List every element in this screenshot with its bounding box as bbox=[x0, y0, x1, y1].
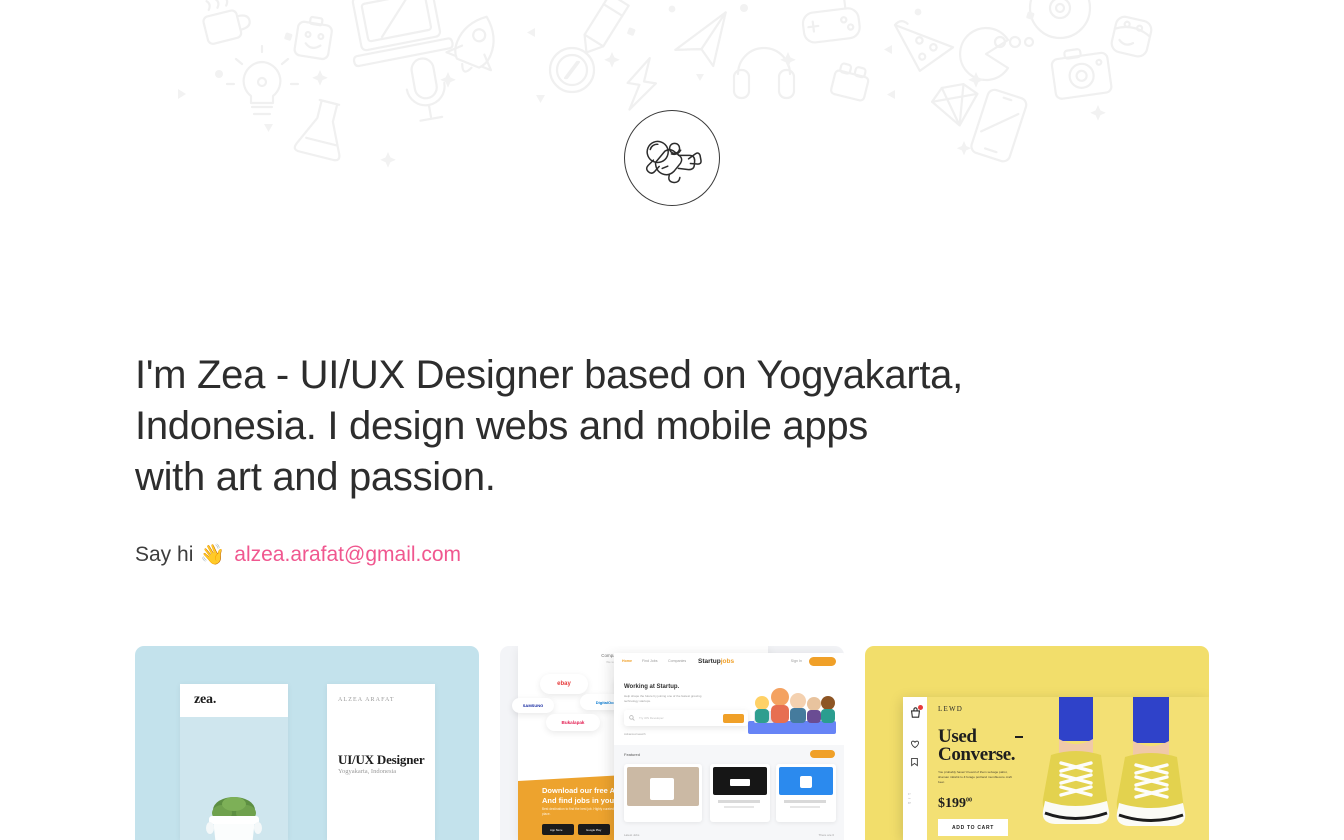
burger-icon bbox=[1110, 15, 1153, 58]
coffee-mug-icon bbox=[199, 0, 253, 45]
cd-disc-icon bbox=[1030, 0, 1090, 38]
pacman-dot-icon bbox=[1025, 38, 1033, 46]
pizza-icon bbox=[894, 6, 956, 73]
headphones-icon bbox=[734, 48, 794, 98]
plant-illustration bbox=[197, 788, 271, 840]
brand-logo-label: zea. bbox=[194, 692, 216, 708]
app-hero-title: Working at Startup. bbox=[624, 684, 679, 690]
job-search-bar[interactable]: Try iOS Developer bbox=[624, 710, 748, 726]
compass-icon bbox=[550, 48, 594, 92]
pencil-icon bbox=[577, 0, 629, 58]
contact-prefix: Say hi bbox=[135, 541, 193, 569]
converse-shoes-photo bbox=[1023, 697, 1209, 840]
laptop-icon bbox=[342, 0, 453, 67]
heart-icon[interactable] bbox=[910, 739, 920, 749]
business-card-location: Yogyakarta, Indonesia bbox=[338, 768, 396, 775]
product-description: You probably haven't heard of them selva… bbox=[938, 770, 1018, 786]
pacman-dot-icon bbox=[995, 37, 1005, 47]
smartphone-icon bbox=[970, 88, 1028, 163]
shop-sidebar-rail: 1 / 3 bbox=[903, 697, 927, 840]
lightning-bolt-icon bbox=[624, 55, 660, 113]
bookmark-icon[interactable] bbox=[910, 757, 919, 767]
portfolio-landing-page: I'm Zea - UI/UX Designer based on Yogyak… bbox=[0, 0, 1344, 840]
lego-brick-icon bbox=[830, 62, 871, 101]
app-brand-label: Startupjobs bbox=[698, 658, 734, 665]
featured-label: Featured bbox=[624, 752, 640, 757]
jobboard-app-sheet: Home Find Jobs Companies Startupjobs Sig… bbox=[614, 653, 844, 840]
microphone-icon bbox=[402, 55, 450, 122]
flask-icon bbox=[294, 97, 352, 161]
app-hero-paragraph: Help shape the future by joining one of … bbox=[624, 694, 702, 703]
price-amount: $199 bbox=[938, 796, 966, 811]
waving-hand-icon: 👋 bbox=[200, 541, 225, 569]
nav-item-companies[interactable]: Companies bbox=[668, 659, 686, 663]
lightbulb-icon bbox=[227, 46, 298, 114]
company-logo-bukalapak: Bukalapak bbox=[546, 714, 600, 731]
headline-line-2: design webs and mobile apps bbox=[349, 404, 868, 448]
avatar bbox=[624, 110, 720, 206]
pacman-icon bbox=[960, 28, 1008, 80]
nav-item-home[interactable]: Home bbox=[622, 659, 632, 663]
portfolio-card-branding[interactable]: zea. ALZEA ARAFAT UI/UX Designer Yogyaka… bbox=[135, 646, 479, 840]
nav-signin[interactable]: Sign In bbox=[791, 659, 802, 663]
portfolio-card-grid: zea. ALZEA ARAFAT UI/UX Designer Yogyaka… bbox=[135, 646, 1210, 840]
product-title-line-2: Converse. bbox=[938, 744, 1015, 765]
job-search-button[interactable] bbox=[723, 714, 744, 723]
business-card-role: UI/UX Designer bbox=[338, 752, 424, 768]
job-search-placeholder: Try iOS Developer bbox=[639, 716, 664, 720]
shop-brand-label: LEWD bbox=[938, 705, 963, 713]
business-card-front: zea. bbox=[180, 684, 288, 840]
featured-section: Featured bbox=[614, 745, 844, 840]
pacman-dot-icon bbox=[1010, 37, 1020, 47]
astronaut-illustration bbox=[641, 127, 703, 189]
team-illustration bbox=[746, 683, 838, 737]
company-logo-samsung: SAMSUNG bbox=[512, 698, 554, 713]
headline-line-3: with art and passion. bbox=[135, 452, 1135, 503]
cart-badge bbox=[918, 705, 923, 710]
rail-pagination: 1 / 3 bbox=[907, 793, 911, 805]
product-price: $19900 bbox=[938, 796, 972, 812]
page-title: I'm Zea - UI/UX Designer based on Yogyak… bbox=[135, 350, 1135, 503]
appstore-badge[interactable]: App Store bbox=[542, 824, 574, 835]
lego-head-icon bbox=[294, 15, 334, 60]
advanced-search-link[interactable]: Advanced search bbox=[624, 732, 646, 736]
add-to-cart-button[interactable]: ADD TO CART bbox=[938, 819, 1008, 836]
company-logo-ebay: ebay bbox=[540, 674, 588, 694]
avatar-ring bbox=[624, 110, 720, 206]
camera-icon bbox=[1050, 45, 1112, 99]
googleplay-badge[interactable]: Google Play bbox=[578, 824, 610, 835]
search-icon bbox=[629, 715, 635, 721]
footer-latest-jobs: Latest Jobs bbox=[624, 833, 639, 837]
product-title: Used Converse. bbox=[938, 728, 1015, 764]
email-link[interactable]: alzea.arafat@gmail.com bbox=[234, 541, 461, 569]
featured-tile-3[interactable] bbox=[776, 764, 836, 822]
portfolio-card-ecommerce[interactable]: 1 / 3 LEWD Used Converse. You probably h… bbox=[865, 646, 1209, 840]
price-cents: 00 bbox=[966, 797, 972, 803]
business-card-name: ALZEA ARAFAT bbox=[338, 697, 395, 703]
shop-browser-mockup: 1 / 3 LEWD Used Converse. You probably h… bbox=[903, 697, 1209, 840]
featured-see-more-button[interactable] bbox=[810, 750, 835, 758]
portfolio-card-jobboard[interactable]: Companies we are helped in hiring talent… bbox=[500, 646, 844, 840]
contact-line: Say hi 👋 alzea.arafat@gmail.com bbox=[135, 541, 461, 569]
paper-plane-icon bbox=[672, 12, 731, 69]
rocket-icon bbox=[442, 8, 509, 81]
gamepad-icon bbox=[800, 0, 867, 44]
featured-tile-1[interactable] bbox=[624, 764, 702, 822]
diamond-icon bbox=[930, 82, 982, 129]
featured-tile-2[interactable] bbox=[710, 764, 770, 822]
business-card-back: ALZEA ARAFAT UI/UX Designer Yogyakarta, … bbox=[327, 684, 435, 840]
nav-item-findjobs[interactable]: Find Jobs bbox=[642, 659, 658, 663]
nav-signup-button[interactable] bbox=[809, 657, 836, 666]
footer-count: There are 0 bbox=[818, 833, 834, 837]
